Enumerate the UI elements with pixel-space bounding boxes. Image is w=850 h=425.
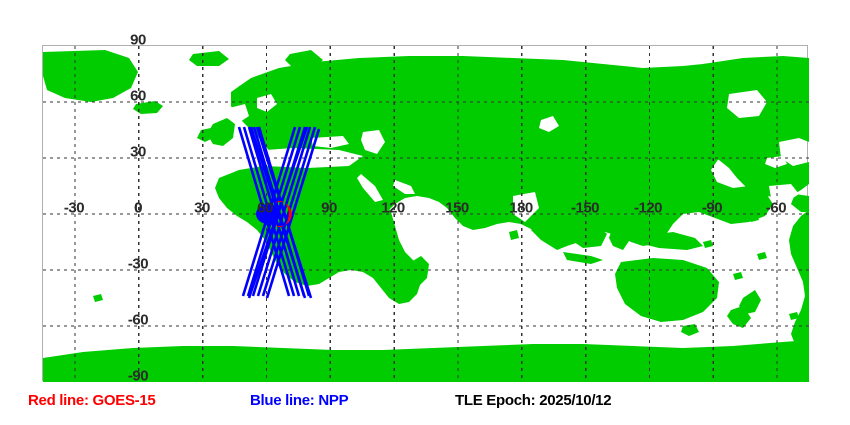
land-australia	[615, 258, 719, 322]
land-fiji	[757, 252, 767, 260]
land-greenland	[43, 50, 138, 102]
land-pacific-is-2	[733, 272, 743, 280]
land-java	[563, 252, 603, 264]
legend-epoch: TLE Epoch: 2025/10/12	[455, 392, 611, 409]
landmass-layer	[43, 50, 809, 382]
land-south-america	[789, 206, 809, 350]
legend-footer: Red line: GOES-15 Blue line: NPP TLE Epo…	[0, 392, 850, 425]
land-south-atlantic-is	[93, 294, 103, 302]
legend-npp: Blue line: NPP	[250, 392, 348, 409]
land-pacific-is-1	[703, 240, 713, 248]
screenshot-root: -30 0 30 60 90 120 150 180 -150 -120 -90…	[0, 0, 850, 425]
world-map[interactable]	[42, 45, 808, 381]
land-antarctica	[43, 340, 809, 382]
land-sri-lanka	[509, 230, 519, 240]
land-iceland	[133, 101, 163, 114]
land-svalbard	[189, 51, 229, 66]
npp-position-marker[interactable]	[256, 204, 280, 224]
legend-goes15: Red line: GOES-15	[28, 392, 155, 409]
map-canvas	[43, 46, 809, 382]
